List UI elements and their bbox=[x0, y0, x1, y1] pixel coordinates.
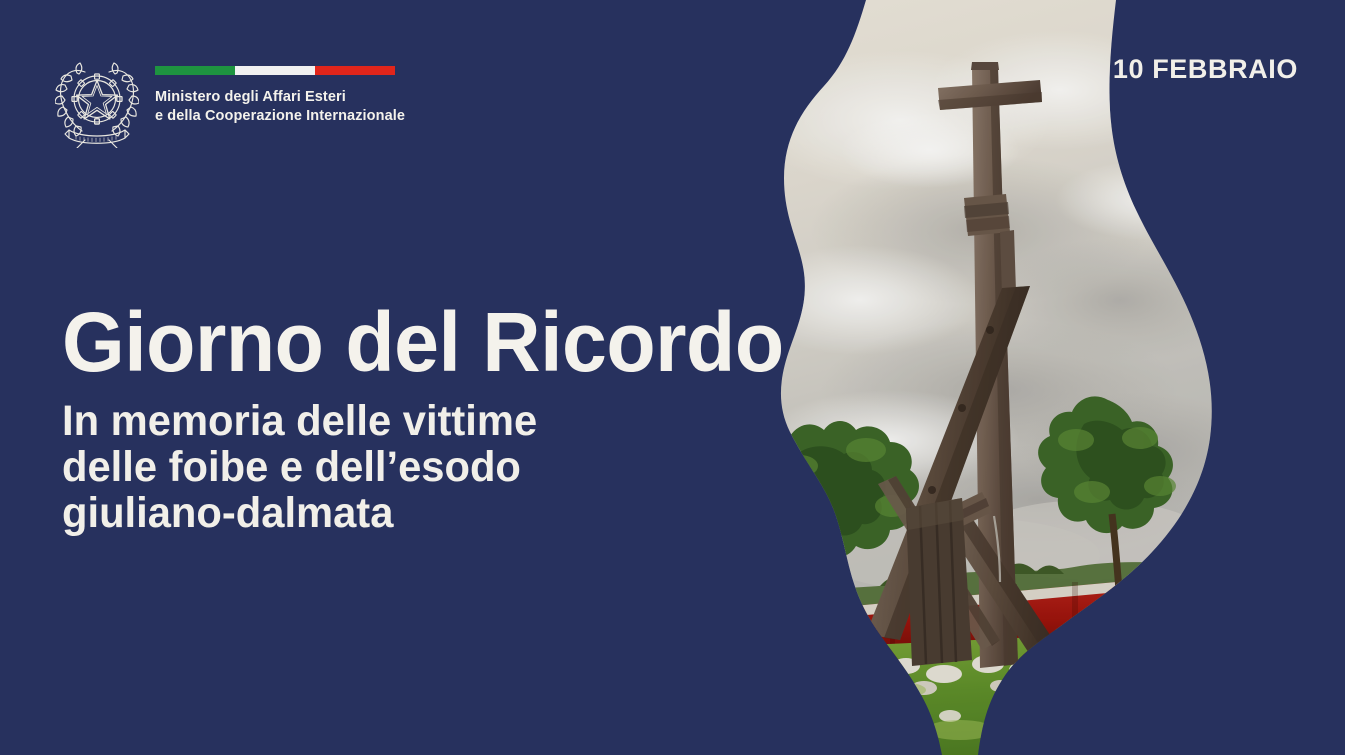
italian-republic-emblem-icon bbox=[55, 52, 139, 148]
tricolor-green bbox=[155, 66, 235, 75]
page-title: Giorno del Ricordo bbox=[62, 300, 734, 384]
subtitle-line-2: delle foibe e dell’esodo bbox=[62, 444, 741, 490]
brand-lockup: Ministero degli Affari Esteri e della Co… bbox=[55, 52, 405, 148]
subtitle-line-3: giuliano-dalmata bbox=[62, 490, 741, 536]
italian-tricolor-bar bbox=[155, 66, 395, 75]
ministry-name-line-2: e della Cooperazione Internazionale bbox=[155, 107, 405, 126]
headline-block: Giorno del Ricordo In memoria delle vitt… bbox=[62, 300, 762, 536]
poster-canvas: Ministero degli Affari Esteri e della Co… bbox=[0, 0, 1345, 755]
event-date-label: 10 FEBBRAIO bbox=[1113, 54, 1298, 85]
brand-text-column: Ministero degli Affari Esteri e della Co… bbox=[155, 52, 405, 126]
tricolor-red bbox=[315, 66, 395, 75]
ministry-name-line-1: Ministero degli Affari Esteri bbox=[155, 88, 405, 107]
tricolor-white bbox=[235, 66, 315, 75]
subtitle-line-1: In memoria delle vittime bbox=[62, 398, 741, 444]
page-subtitle: In memoria delle vittime delle foibe e d… bbox=[62, 398, 741, 536]
